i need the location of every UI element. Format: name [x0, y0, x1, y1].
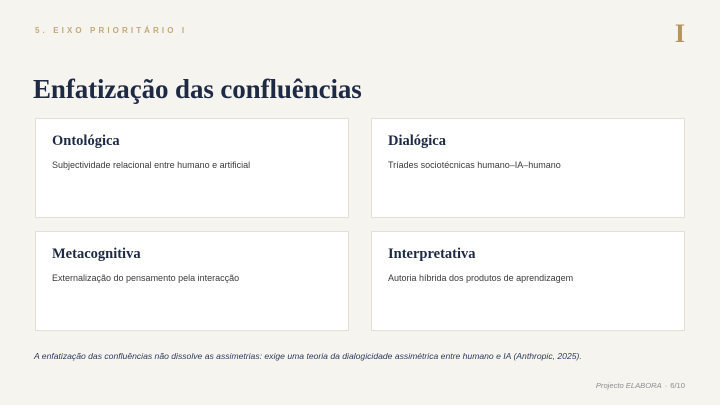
- card-dialogica: Dialógica Tríades sociotécnicas humano–I…: [371, 118, 685, 218]
- card-body: Subjectividade relacional entre humano e…: [52, 159, 332, 172]
- slide-footer: Projecto ELABORA·6/10: [596, 381, 685, 390]
- card-interpretativa: Interpretativa Autoria híbrida dos produ…: [371, 231, 685, 331]
- card-title: Interpretativa: [388, 246, 668, 263]
- footer-project: Projecto ELABORA: [596, 381, 662, 390]
- cards-grid: Ontológica Subjectividade relacional ent…: [35, 118, 685, 331]
- card-title: Ontológica: [52, 133, 332, 150]
- section-numeral: I: [675, 21, 685, 47]
- footer-separator: ·: [662, 381, 671, 390]
- card-body: Tríades sociotécnicas humano–IA–humano: [388, 159, 668, 172]
- footer-page-number: 6/10: [670, 381, 685, 390]
- card-metacognitiva: Metacognitiva Externalização do pensamen…: [35, 231, 349, 331]
- card-ontologica: Ontológica Subjectividade relacional ent…: [35, 118, 349, 218]
- page-title: Enfatização das confluências: [33, 74, 362, 105]
- slide: 5. EIXO PRIORITÁRIO I I Enfatização das …: [0, 0, 720, 405]
- card-title: Dialógica: [388, 133, 668, 150]
- slide-note: A enfatização das confluências não disso…: [34, 350, 689, 362]
- eyebrow-label: 5. EIXO PRIORITÁRIO I: [35, 26, 187, 35]
- card-body: Autoria híbrida dos produtos de aprendiz…: [388, 272, 668, 285]
- card-body: Externalização do pensamento pela intera…: [52, 272, 332, 285]
- card-title: Metacognitiva: [52, 246, 332, 263]
